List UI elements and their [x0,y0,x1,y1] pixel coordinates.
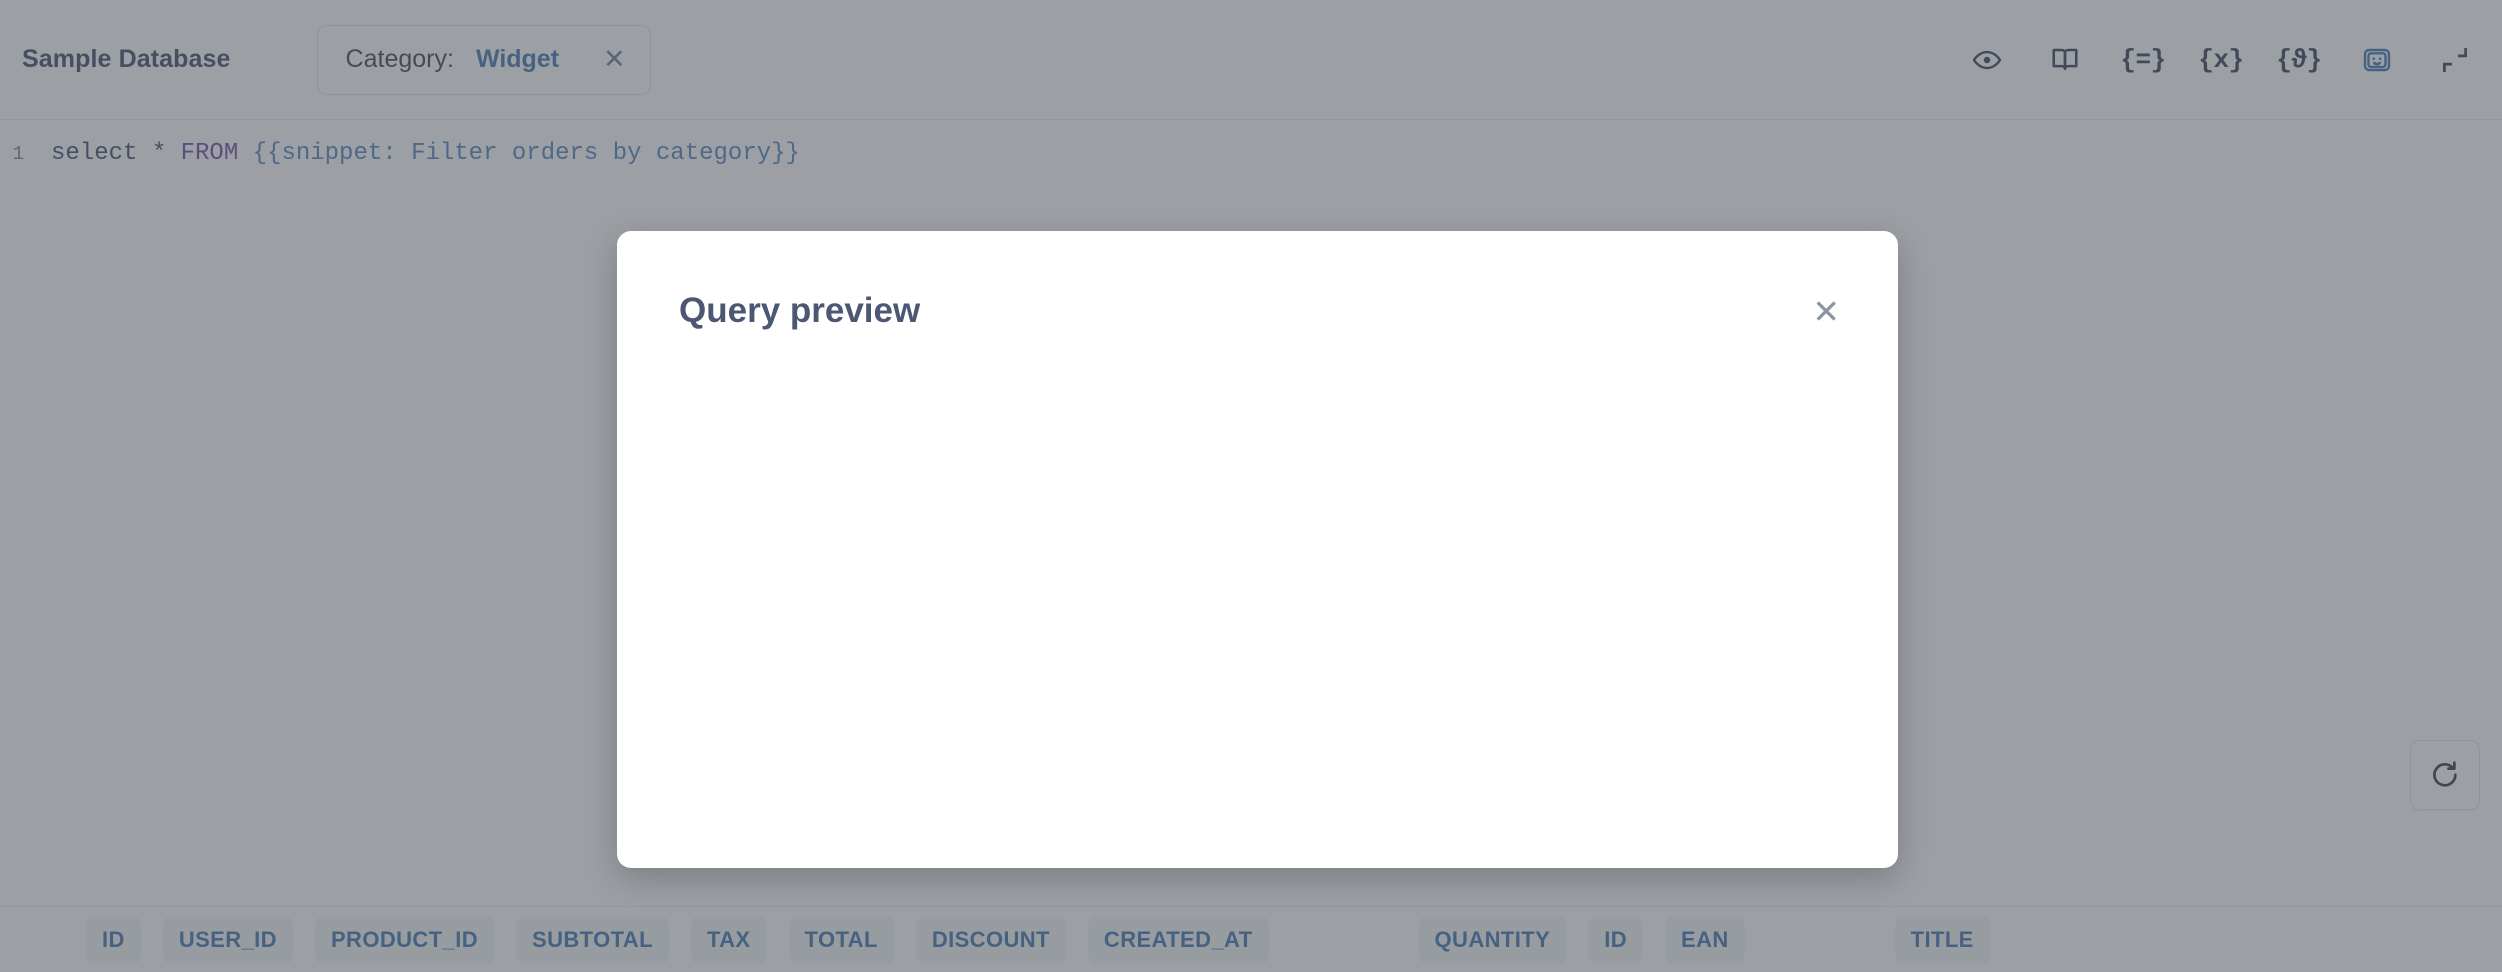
modal-header: Query preview ✕ [617,231,1898,328]
close-icon[interactable]: ✕ [1812,295,1840,328]
page-title: Query preview [679,293,920,328]
query-preview-modal: Query preview ✕ [617,231,1898,868]
